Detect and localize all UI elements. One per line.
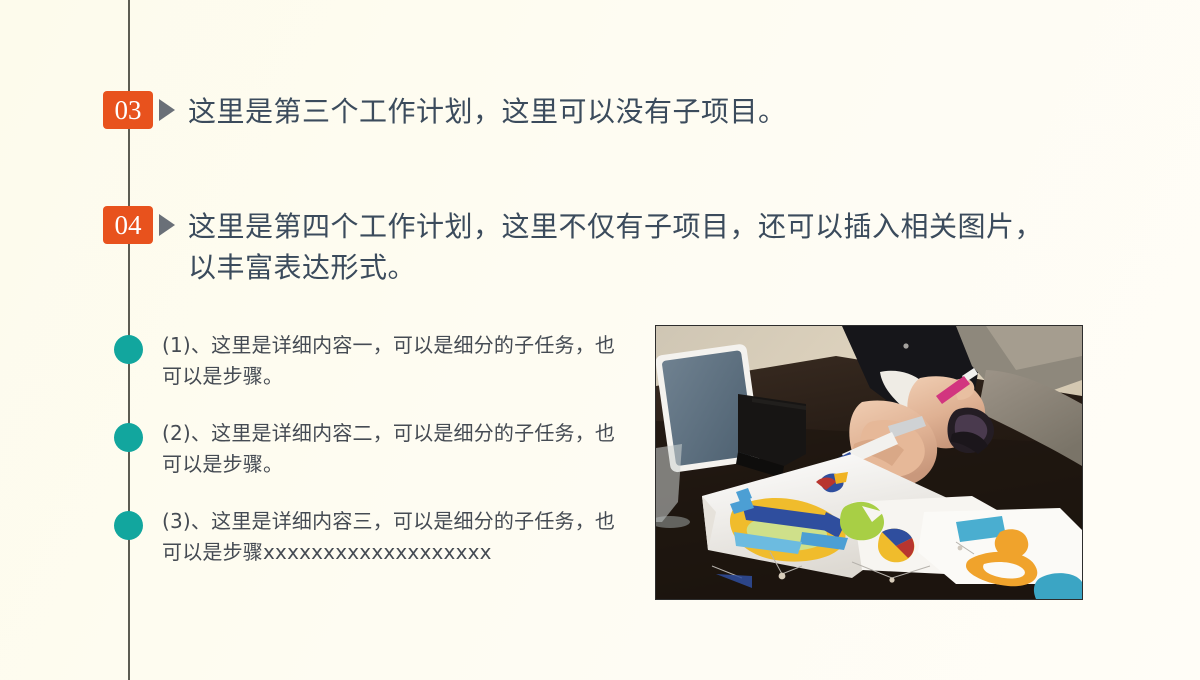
plan-number-badge: 03	[103, 91, 153, 129]
list-item[interactable]: (3)、这里是详细内容三，可以是细分的子任务，也可以是步骤xxxxxxxxxxx…	[0, 506, 640, 568]
list-item-label: (1)、这里是详细内容一，可以是细分的子任务，也可以是步骤。	[162, 330, 632, 392]
plan-item-04[interactable]: 04 这里是第四个工作计划，这里不仅有子项目，还可以插入相关图片，以丰富表达形式…	[103, 206, 1048, 288]
dot-icon	[114, 511, 143, 540]
plan-number-badge: 04	[103, 206, 153, 244]
hands-drawing-infographic-photo	[655, 325, 1083, 600]
list-item[interactable]: (1)、这里是详细内容一，可以是细分的子任务，也可以是步骤。	[0, 330, 640, 392]
plan-heading-text: 这里是第三个工作计划，这里可以没有子项目。	[188, 91, 787, 132]
list-item-label: (2)、这里是详细内容二，可以是细分的子任务，也可以是步骤。	[162, 418, 632, 480]
plan-heading-text: 这里是第四个工作计划，这里不仅有子项目，还可以插入相关图片，以丰富表达形式。	[188, 206, 1048, 288]
triangle-right-icon	[159, 99, 175, 121]
detail-list: (1)、这里是详细内容一，可以是细分的子任务，也可以是步骤。 (2)、这里是详细…	[0, 330, 640, 594]
dot-icon	[114, 423, 143, 452]
list-item[interactable]: (2)、这里是详细内容二，可以是细分的子任务，也可以是步骤。	[0, 418, 640, 480]
photo-illustration	[656, 326, 1082, 599]
list-item-label: (3)、这里是详细内容三，可以是细分的子任务，也可以是步骤xxxxxxxxxxx…	[162, 506, 632, 568]
triangle-right-icon	[159, 214, 175, 236]
plan-item-03[interactable]: 03 这里是第三个工作计划，这里可以没有子项目。	[103, 91, 787, 132]
slide-canvas: 03 这里是第三个工作计划，这里可以没有子项目。 04 这里是第四个工作计划，这…	[0, 0, 1200, 680]
dot-icon	[114, 335, 143, 364]
